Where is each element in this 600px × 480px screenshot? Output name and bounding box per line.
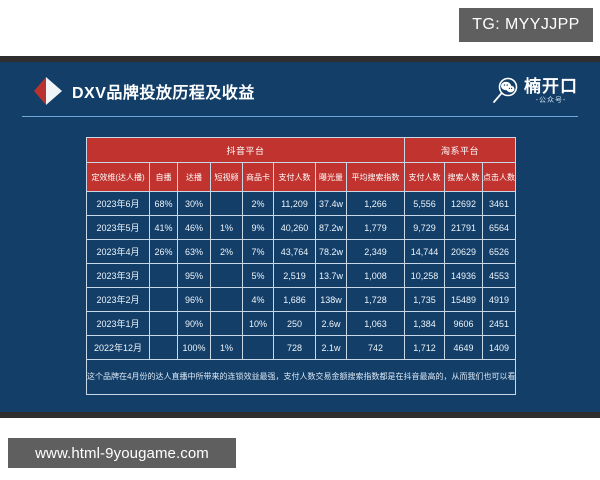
column-header-avg-search-index: 平均搜索指数 [347, 163, 405, 192]
table-cell [211, 288, 243, 312]
magnifier-wechat-icon [490, 76, 520, 106]
column-header-metric: 定效维(达人播) [87, 163, 150, 192]
site-watermark: www.html-9yougame.com [8, 438, 236, 468]
table-cell: 4% [243, 288, 274, 312]
table-cell: 5,556 [405, 192, 445, 216]
header-divider [22, 116, 578, 117]
table-cell: 2,349 [347, 240, 405, 264]
page-title: DXV品牌投放历程及收益 [72, 79, 255, 103]
table-cell: 1,266 [347, 192, 405, 216]
row-label: 2023年5月 [87, 216, 150, 240]
table-cell: 43,764 [274, 240, 316, 264]
table-row: 2023年2月96%4%1,686138w1,7281,735154894919 [87, 288, 516, 312]
table-body: 2023年6月68%30%2%11,20937.4w1,2665,5561269… [87, 192, 516, 360]
column-header-short-video: 短视频 [211, 163, 243, 192]
table-row: 2023年5月41%46%1%9%40,26087.2w1,7799,72921… [87, 216, 516, 240]
table-cell: 9% [243, 216, 274, 240]
table-cell: 742 [347, 336, 405, 360]
table-cell: 1,063 [347, 312, 405, 336]
table-cell: 14,744 [405, 240, 445, 264]
table-cell: 2% [243, 192, 274, 216]
row-label: 2023年3月 [87, 264, 150, 288]
table-cell: 41% [150, 216, 178, 240]
table-cell: 728 [274, 336, 316, 360]
table-cell: 6564 [483, 216, 516, 240]
row-label: 2022年12月 [87, 336, 150, 360]
table-cell: 90% [178, 312, 211, 336]
table-cell: 37.4w [316, 192, 347, 216]
table-cell: 78.2w [316, 240, 347, 264]
table-column-header-row: 定效维(达人播) 自播 达播 短视频 商品卡 支付人数 曝光量 平均搜索指数 支… [87, 163, 516, 192]
table-cell [150, 336, 178, 360]
table-cell: 1,686 [274, 288, 316, 312]
table-cell: 138w [316, 288, 347, 312]
table-cell: 20629 [445, 240, 483, 264]
double-triangle-arrow-icon [32, 74, 66, 108]
column-header-tb-payers: 支付人数 [405, 163, 445, 192]
table-cell: 2% [211, 240, 243, 264]
table-cell: 4553 [483, 264, 516, 288]
performance-table: 抖音平台 淘系平台 定效维(达人播) 自播 达播 短视频 商品卡 支付人数 曝光… [86, 137, 516, 395]
table-cell: 12692 [445, 192, 483, 216]
table-cell: 68% [150, 192, 178, 216]
table-cell [150, 288, 178, 312]
column-header-dy-payers: 支付人数 [274, 163, 316, 192]
table-cell: 1,008 [347, 264, 405, 288]
table-cell: 26% [150, 240, 178, 264]
table-cell: 4919 [483, 288, 516, 312]
table-cell [211, 264, 243, 288]
column-header-self-broadcast: 自播 [150, 163, 178, 192]
table-cell: 13.7w [316, 264, 347, 288]
table-row: 2023年1月90%10%2502.6w1,0631,38496062451 [87, 312, 516, 336]
table-cell: 14936 [445, 264, 483, 288]
table-cell: 63% [178, 240, 211, 264]
column-header-influencer-broadcast: 达播 [178, 163, 211, 192]
table-cell [150, 312, 178, 336]
table-cell: 11,209 [274, 192, 316, 216]
slide-panel: DXV品牌投放历程及收益 楠开口 -公众号- [0, 62, 600, 412]
table-cell: 2.6w [316, 312, 347, 336]
table-cell: 9,729 [405, 216, 445, 240]
slide-header: DXV品牌投放历程及收益 楠开口 -公众号- [0, 62, 600, 118]
table-cell: 1% [211, 336, 243, 360]
brand-logo: 楠开口 -公众号- [490, 70, 578, 112]
table-cell: 1,712 [405, 336, 445, 360]
table-row: 2023年6月68%30%2%11,20937.4w1,2665,5561269… [87, 192, 516, 216]
table-note: 这个品牌在4月份的达人直播中所带来的连锁效益最强，支付人数交易金额搜索指数都是在… [87, 360, 516, 395]
column-header-clickers: 点击人数 [483, 163, 516, 192]
brand-subtitle: -公众号- [536, 96, 567, 105]
table-cell: 1% [211, 216, 243, 240]
table-cell: 46% [178, 216, 211, 240]
table-cell [243, 336, 274, 360]
row-label: 2023年4月 [87, 240, 150, 264]
table-cell: 100% [178, 336, 211, 360]
table-note-row: 这个品牌在4月份的达人直播中所带来的连锁效益最强，支付人数交易金额搜索指数都是在… [87, 360, 516, 395]
table-cell: 2,519 [274, 264, 316, 288]
table-cell: 3461 [483, 192, 516, 216]
table-cell: 15489 [445, 288, 483, 312]
table-cell: 1,735 [405, 288, 445, 312]
table-row: 2022年12月100%1%7282.1w7421,71246491409 [87, 336, 516, 360]
column-header-product-card: 商品卡 [243, 163, 274, 192]
table-cell: 40,260 [274, 216, 316, 240]
table-group-header-row: 抖音平台 淘系平台 [87, 138, 516, 163]
row-label: 2023年1月 [87, 312, 150, 336]
table-row: 2023年3月95%5%2,51913.7w1,00810,2581493645… [87, 264, 516, 288]
table-cell: 7% [243, 240, 274, 264]
group-header-douyin: 抖音平台 [87, 138, 405, 163]
table-cell: 4649 [445, 336, 483, 360]
table-cell: 6526 [483, 240, 516, 264]
table-cell [150, 264, 178, 288]
table-cell: 96% [178, 288, 211, 312]
table-cell: 1,728 [347, 288, 405, 312]
table-cell: 10% [243, 312, 274, 336]
table-cell: 30% [178, 192, 211, 216]
tg-watermark: TG: MYYJJPP [459, 8, 593, 42]
table-cell: 1409 [483, 336, 516, 360]
table-cell: 87.2w [316, 216, 347, 240]
column-header-impressions: 曝光量 [316, 163, 347, 192]
table-cell: 250 [274, 312, 316, 336]
group-header-taobao: 淘系平台 [405, 138, 516, 163]
table-cell: 1,779 [347, 216, 405, 240]
brand-text-block: 楠开口 -公众号- [524, 77, 578, 105]
row-label: 2023年6月 [87, 192, 150, 216]
table-cell: 21791 [445, 216, 483, 240]
table-cell: 10,258 [405, 264, 445, 288]
table-cell: 9606 [445, 312, 483, 336]
table-cell [211, 312, 243, 336]
row-label: 2023年2月 [87, 288, 150, 312]
table-cell: 5% [243, 264, 274, 288]
table-row: 2023年4月26%63%2%7%43,76478.2w2,34914,7442… [87, 240, 516, 264]
column-header-searchers: 搜索人数 [445, 163, 483, 192]
table-cell: 95% [178, 264, 211, 288]
brand-name: 楠开口 [524, 77, 578, 96]
table-cell: 2451 [483, 312, 516, 336]
table-cell: 2.1w [316, 336, 347, 360]
table-cell: 1,384 [405, 312, 445, 336]
table-cell [211, 192, 243, 216]
